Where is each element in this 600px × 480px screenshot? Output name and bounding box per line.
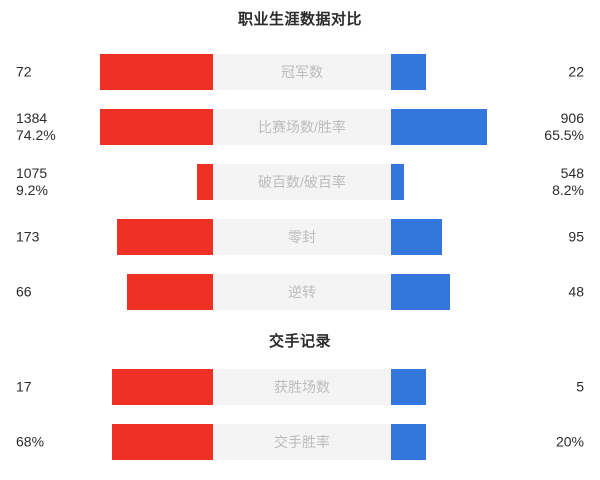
stat-right-value-main: 22 [568,64,584,80]
stat-bar-right [391,109,487,145]
stat-row: 17 获胜场数 5 [0,365,600,409]
stat-row: 68% 交手胜率 20% [0,420,600,464]
stat-label: 逆转 [213,274,391,310]
stat-row: 72 冠军数 22 [0,50,600,94]
stat-label: 获胜场数 [213,369,391,405]
stat-left-value-main: 1384 [16,110,47,126]
stat-bar-left [100,109,213,145]
stat-row: 1384 74.2% 比赛场数/胜率 906 65.5% [0,105,600,149]
stat-bar-area: 零封 [100,219,490,255]
stat-right-value: 95 [568,229,584,246]
stat-label: 零封 [213,219,391,255]
stat-bar-right [391,424,426,460]
stat-left-value-main: 66 [16,284,32,300]
section-title-head-to-head: 交手记录 [0,332,600,352]
stat-label: 冠军数 [213,54,391,90]
stat-left-value: 1384 74.2% [16,110,56,144]
stat-bar-right [391,219,442,255]
stat-left-value-sub: 9.2% [16,182,48,199]
stat-label: 交手胜率 [213,424,391,460]
stat-row: 66 逆转 48 [0,270,600,314]
stat-bar-left [112,424,213,460]
stat-bar-left [112,369,213,405]
stat-right-value: 548 8.2% [552,165,584,199]
stat-left-value: 17 [16,379,32,396]
stat-left-value: 173 [16,229,39,246]
stat-left-value-main: 1075 [16,165,47,181]
stat-right-value-main: 48 [568,284,584,300]
stat-bar-right [391,369,426,405]
stat-row: 173 零封 95 [0,215,600,259]
stat-bar-area: 破百数/破百率 [100,164,490,200]
stat-right-value-main: 906 [561,110,584,126]
stat-bar-left [127,274,213,310]
stat-right-value-main: 95 [568,229,584,245]
stat-bar-left [197,164,213,200]
stat-left-value: 1075 9.2% [16,165,48,199]
stat-right-value: 48 [568,284,584,301]
stat-right-value-main: 20% [556,434,584,450]
stat-bar-left [117,219,213,255]
stat-bar-area: 冠军数 [100,54,490,90]
stat-bar-right [391,54,426,90]
stats-comparison-board: 职业生涯数据对比 72 冠军数 22 1384 74.2% 比赛场数/胜率 90… [0,0,600,480]
stat-right-value: 22 [568,64,584,81]
stat-left-value-sub: 74.2% [16,127,56,144]
stat-left-value-main: 72 [16,64,32,80]
stat-right-value-main: 5 [576,379,584,395]
stat-left-value-main: 68% [16,434,44,450]
stat-right-value-sub: 65.5% [544,127,584,144]
stat-bar-left [100,54,213,90]
section-title-career: 职业生涯数据对比 [0,10,600,30]
stat-right-value-sub: 8.2% [552,182,584,199]
stat-bar-area: 获胜场数 [100,369,490,405]
stat-right-value-main: 548 [561,165,584,181]
stat-right-value: 5 [576,379,584,396]
stat-left-value-main: 173 [16,229,39,245]
stat-bar-area: 逆转 [100,274,490,310]
stat-row: 1075 9.2% 破百数/破百率 548 8.2% [0,160,600,204]
stat-left-value: 72 [16,64,32,81]
stat-left-value: 68% [16,434,44,451]
stat-bar-area: 交手胜率 [100,424,490,460]
stat-left-value-main: 17 [16,379,32,395]
stat-bar-right [391,274,450,310]
stat-right-value: 20% [556,434,584,451]
stat-label: 比赛场数/胜率 [213,109,391,145]
stat-right-value: 906 65.5% [544,110,584,144]
stat-left-value: 66 [16,284,32,301]
stat-label: 破百数/破百率 [213,164,391,200]
stat-bar-right [391,164,404,200]
stat-bar-area: 比赛场数/胜率 [100,109,490,145]
